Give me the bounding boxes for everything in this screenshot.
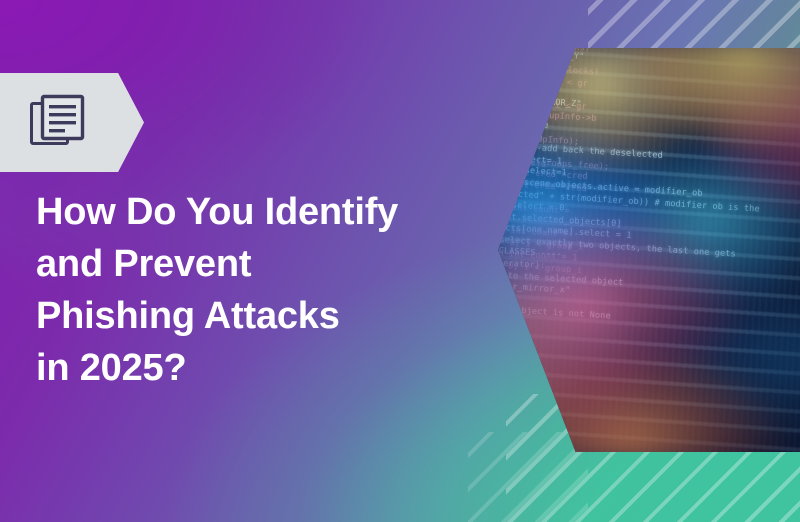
documents-icon — [29, 92, 89, 152]
headline-line-4: in 2025? — [36, 342, 466, 394]
diagonal-stripes-bottom-center — [468, 432, 588, 522]
headline-line-1: How Do You Identify — [36, 186, 466, 238]
headline-line-3: Phishing Attacks — [36, 290, 466, 342]
headline-line-2: and Prevent — [36, 238, 466, 290]
page-title: How Do You Identify and Prevent Phishing… — [36, 186, 466, 394]
blog-cover-banner: _operation == "MIRROR_X": mod.use_x = Tr… — [0, 0, 800, 522]
